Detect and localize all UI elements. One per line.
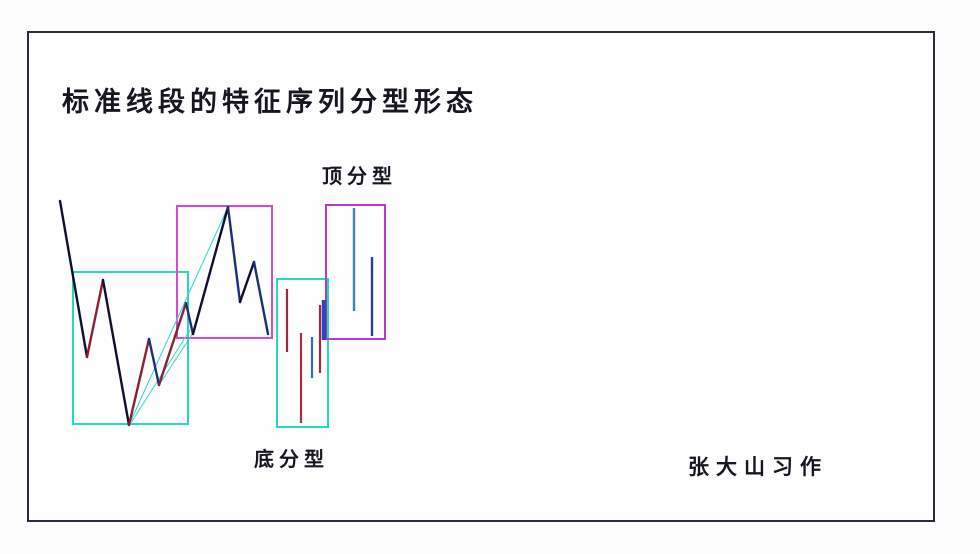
screenshot-canvas: 标准线段的特征序列分型形态 顶分型 底分型 张大山习作 bbox=[0, 0, 980, 554]
label-bottom-fractal: 底分型 bbox=[254, 443, 329, 472]
label-top-fractal: 顶分型 bbox=[322, 160, 397, 189]
page-title: 标准线段的特征序列分型形态 bbox=[62, 80, 478, 119]
author-signature: 张大山习作 bbox=[688, 451, 828, 481]
